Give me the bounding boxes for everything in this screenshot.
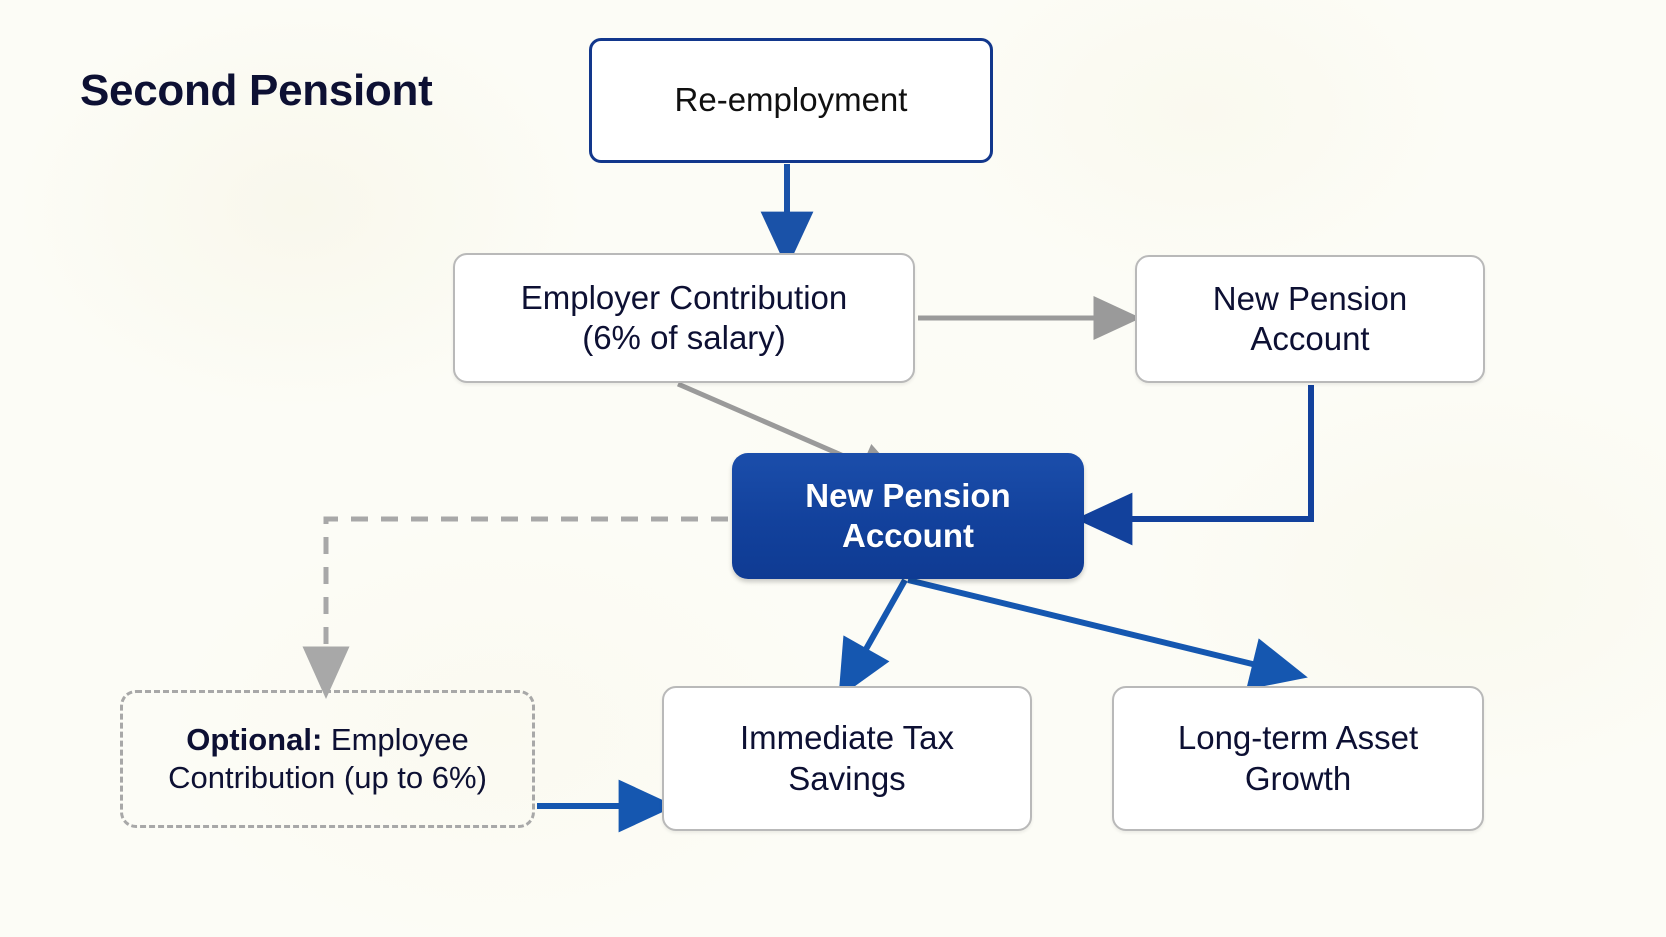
page-title: Second Pensiont bbox=[80, 66, 432, 116]
node-new-pension-account-top[interactable]: New Pension Account bbox=[1135, 255, 1485, 383]
edge-npa-top-to-npa-main bbox=[1103, 385, 1311, 519]
node-new-pension-account-main-line2: Account bbox=[805, 516, 1010, 556]
node-new-pension-account-main[interactable]: New Pension Account bbox=[732, 453, 1084, 579]
node-long-term-asset-growth[interactable]: Long-term Asset Growth bbox=[1112, 686, 1484, 831]
edge-npa-main-to-optional bbox=[326, 519, 728, 672]
node-employer-contribution[interactable]: Employer Contribution (6% of salary) bbox=[453, 253, 915, 383]
node-new-pension-account-main-line1: New Pension bbox=[805, 476, 1010, 516]
node-re-employment[interactable]: Re-employment bbox=[589, 38, 993, 163]
node-employer-contribution-line1: Employer Contribution bbox=[521, 278, 848, 318]
node-long-term-asset-growth-line2: Growth bbox=[1178, 759, 1418, 799]
node-long-term-asset-growth-line1: Long-term Asset bbox=[1178, 718, 1418, 758]
edge-npa-main-to-asset-growth bbox=[908, 580, 1281, 671]
node-immediate-tax-savings[interactable]: Immediate Tax Savings bbox=[662, 686, 1032, 831]
node-optional-employee-contribution[interactable]: Optional: Employee Contribution (up to 6… bbox=[120, 690, 535, 828]
diagram-canvas: Second Pensiont bbox=[0, 0, 1666, 937]
node-new-pension-account-top-line2: Account bbox=[1213, 319, 1407, 359]
node-new-pension-account-top-line1: New Pension bbox=[1213, 279, 1407, 319]
node-employer-contribution-line2: (6% of salary) bbox=[521, 318, 848, 358]
node-immediate-tax-savings-line1: Immediate Tax bbox=[740, 718, 954, 758]
node-re-employment-label: Re-employment bbox=[675, 80, 908, 120]
node-optional-emphasis: Optional: bbox=[186, 722, 322, 757]
node-immediate-tax-savings-line2: Savings bbox=[740, 759, 954, 799]
edge-npa-main-to-tax-savings bbox=[852, 580, 905, 674]
